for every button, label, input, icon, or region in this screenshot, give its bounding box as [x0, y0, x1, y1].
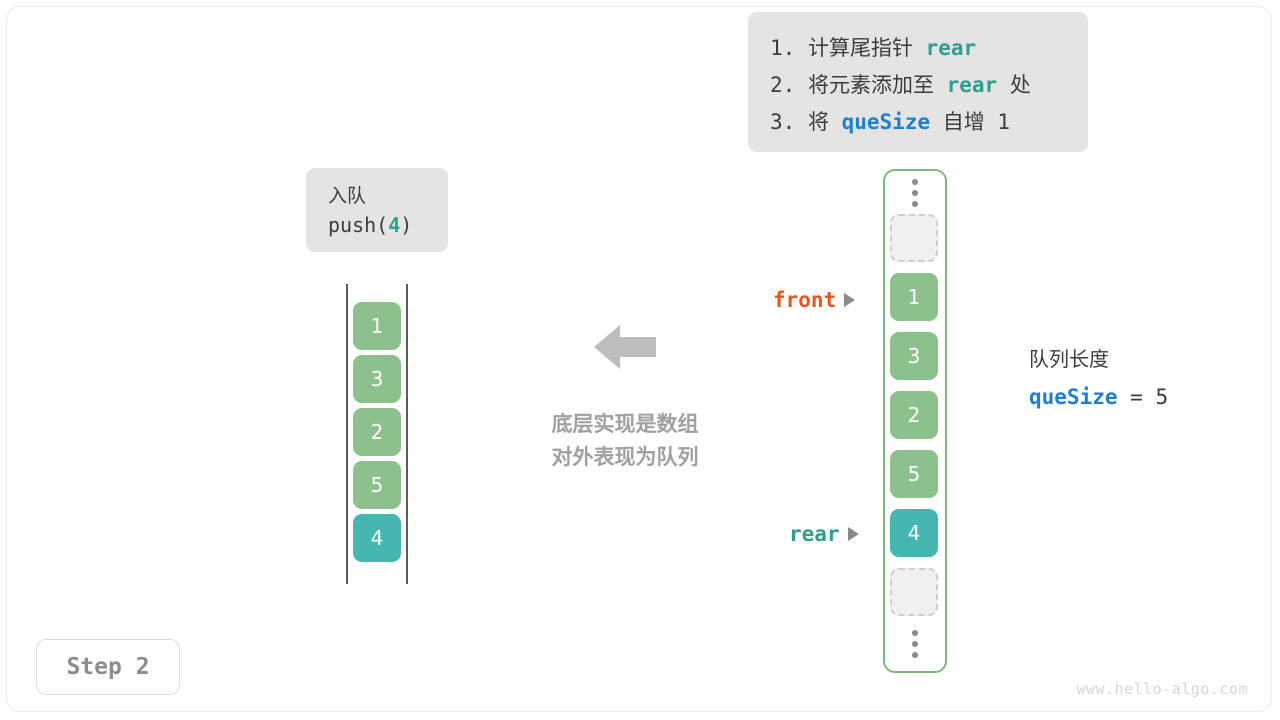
array-cell-empty-bottom [890, 568, 938, 616]
queue-cell-4: 4 [353, 514, 401, 562]
array-cell-2: 2 [890, 391, 938, 439]
diagram-canvas: 1. 计算尾指针 rear 2. 将元素添加至 rear 处 3. 将 queS… [0, 0, 1280, 720]
array-cell-3: 5 [890, 450, 938, 498]
step-2-code: rear [947, 73, 998, 97]
push-call-prefix: push( [328, 213, 388, 237]
quesize-name: queSize [1029, 385, 1118, 409]
logical-queue: 1 3 2 5 4 [340, 284, 414, 584]
quesize-value: 5 [1155, 385, 1168, 409]
step-3-pre: 将 [795, 110, 841, 134]
step-2-post: 处 [997, 73, 1031, 97]
array-bottom-ellipsis-icon [907, 630, 923, 664]
step-2-number: 2. [770, 73, 795, 97]
step-line-2: 2. 将元素添加至 rear 处 [770, 67, 1088, 104]
step-badge: Step 2 [36, 639, 180, 695]
queue-cell-0: 1 [353, 302, 401, 350]
push-call-value: 4 [388, 213, 400, 237]
push-call-suffix: ) [400, 213, 412, 237]
step-3-post: 自增 1 [930, 110, 1010, 134]
rear-pointer-text: rear [789, 522, 840, 546]
queue-cell-3: 5 [353, 461, 401, 509]
left-arrow-icon [594, 323, 656, 371]
step-2-pre: 将元素添加至 [795, 73, 946, 97]
quesize-label: 队列长度 queSize = 5 [1029, 340, 1168, 416]
front-pointer-arrow-icon [844, 293, 855, 307]
array-cell-empty-top [890, 214, 938, 262]
quesize-expression: queSize = 5 [1029, 378, 1168, 416]
quesize-equals: = [1118, 385, 1156, 409]
quesize-title: 队列长度 [1029, 340, 1168, 378]
step-line-1: 1. 计算尾指针 rear [770, 30, 1088, 67]
rear-pointer-arrow-icon [848, 527, 859, 541]
rear-pointer-label: rear [789, 522, 859, 546]
front-pointer-label: front [773, 288, 855, 312]
center-caption: 底层实现是数组 对外表现为队列 [500, 408, 750, 474]
push-note-box: 入队 push(4) [306, 168, 448, 252]
array-cell-0: 1 [890, 273, 938, 321]
step-3-code: queSize [842, 110, 931, 134]
array-top-ellipsis-icon [907, 179, 923, 213]
queue-cell-1: 3 [353, 355, 401, 403]
queue-cell-2: 2 [353, 408, 401, 456]
push-note-call: push(4) [328, 210, 448, 240]
push-note-title: 入队 [328, 182, 448, 210]
front-pointer-text: front [773, 288, 836, 312]
caption-line-2: 对外表现为队列 [500, 441, 750, 474]
watermark: www.hello-algo.com [1076, 680, 1248, 698]
array-cell-1: 3 [890, 332, 938, 380]
array-cell-4: 4 [890, 509, 938, 557]
step-1-number: 1. [770, 36, 795, 60]
step-line-3: 3. 将 queSize 自增 1 [770, 104, 1088, 141]
queue-rail-left [346, 284, 348, 584]
step-1-code: rear [926, 36, 977, 60]
steps-note-box: 1. 计算尾指针 rear 2. 将元素添加至 rear 处 3. 将 queS… [748, 12, 1088, 152]
caption-line-1: 底层实现是数组 [500, 408, 750, 441]
step-3-number: 3. [770, 110, 795, 134]
queue-rail-right [406, 284, 408, 584]
step-1-pre: 计算尾指针 [795, 36, 925, 60]
